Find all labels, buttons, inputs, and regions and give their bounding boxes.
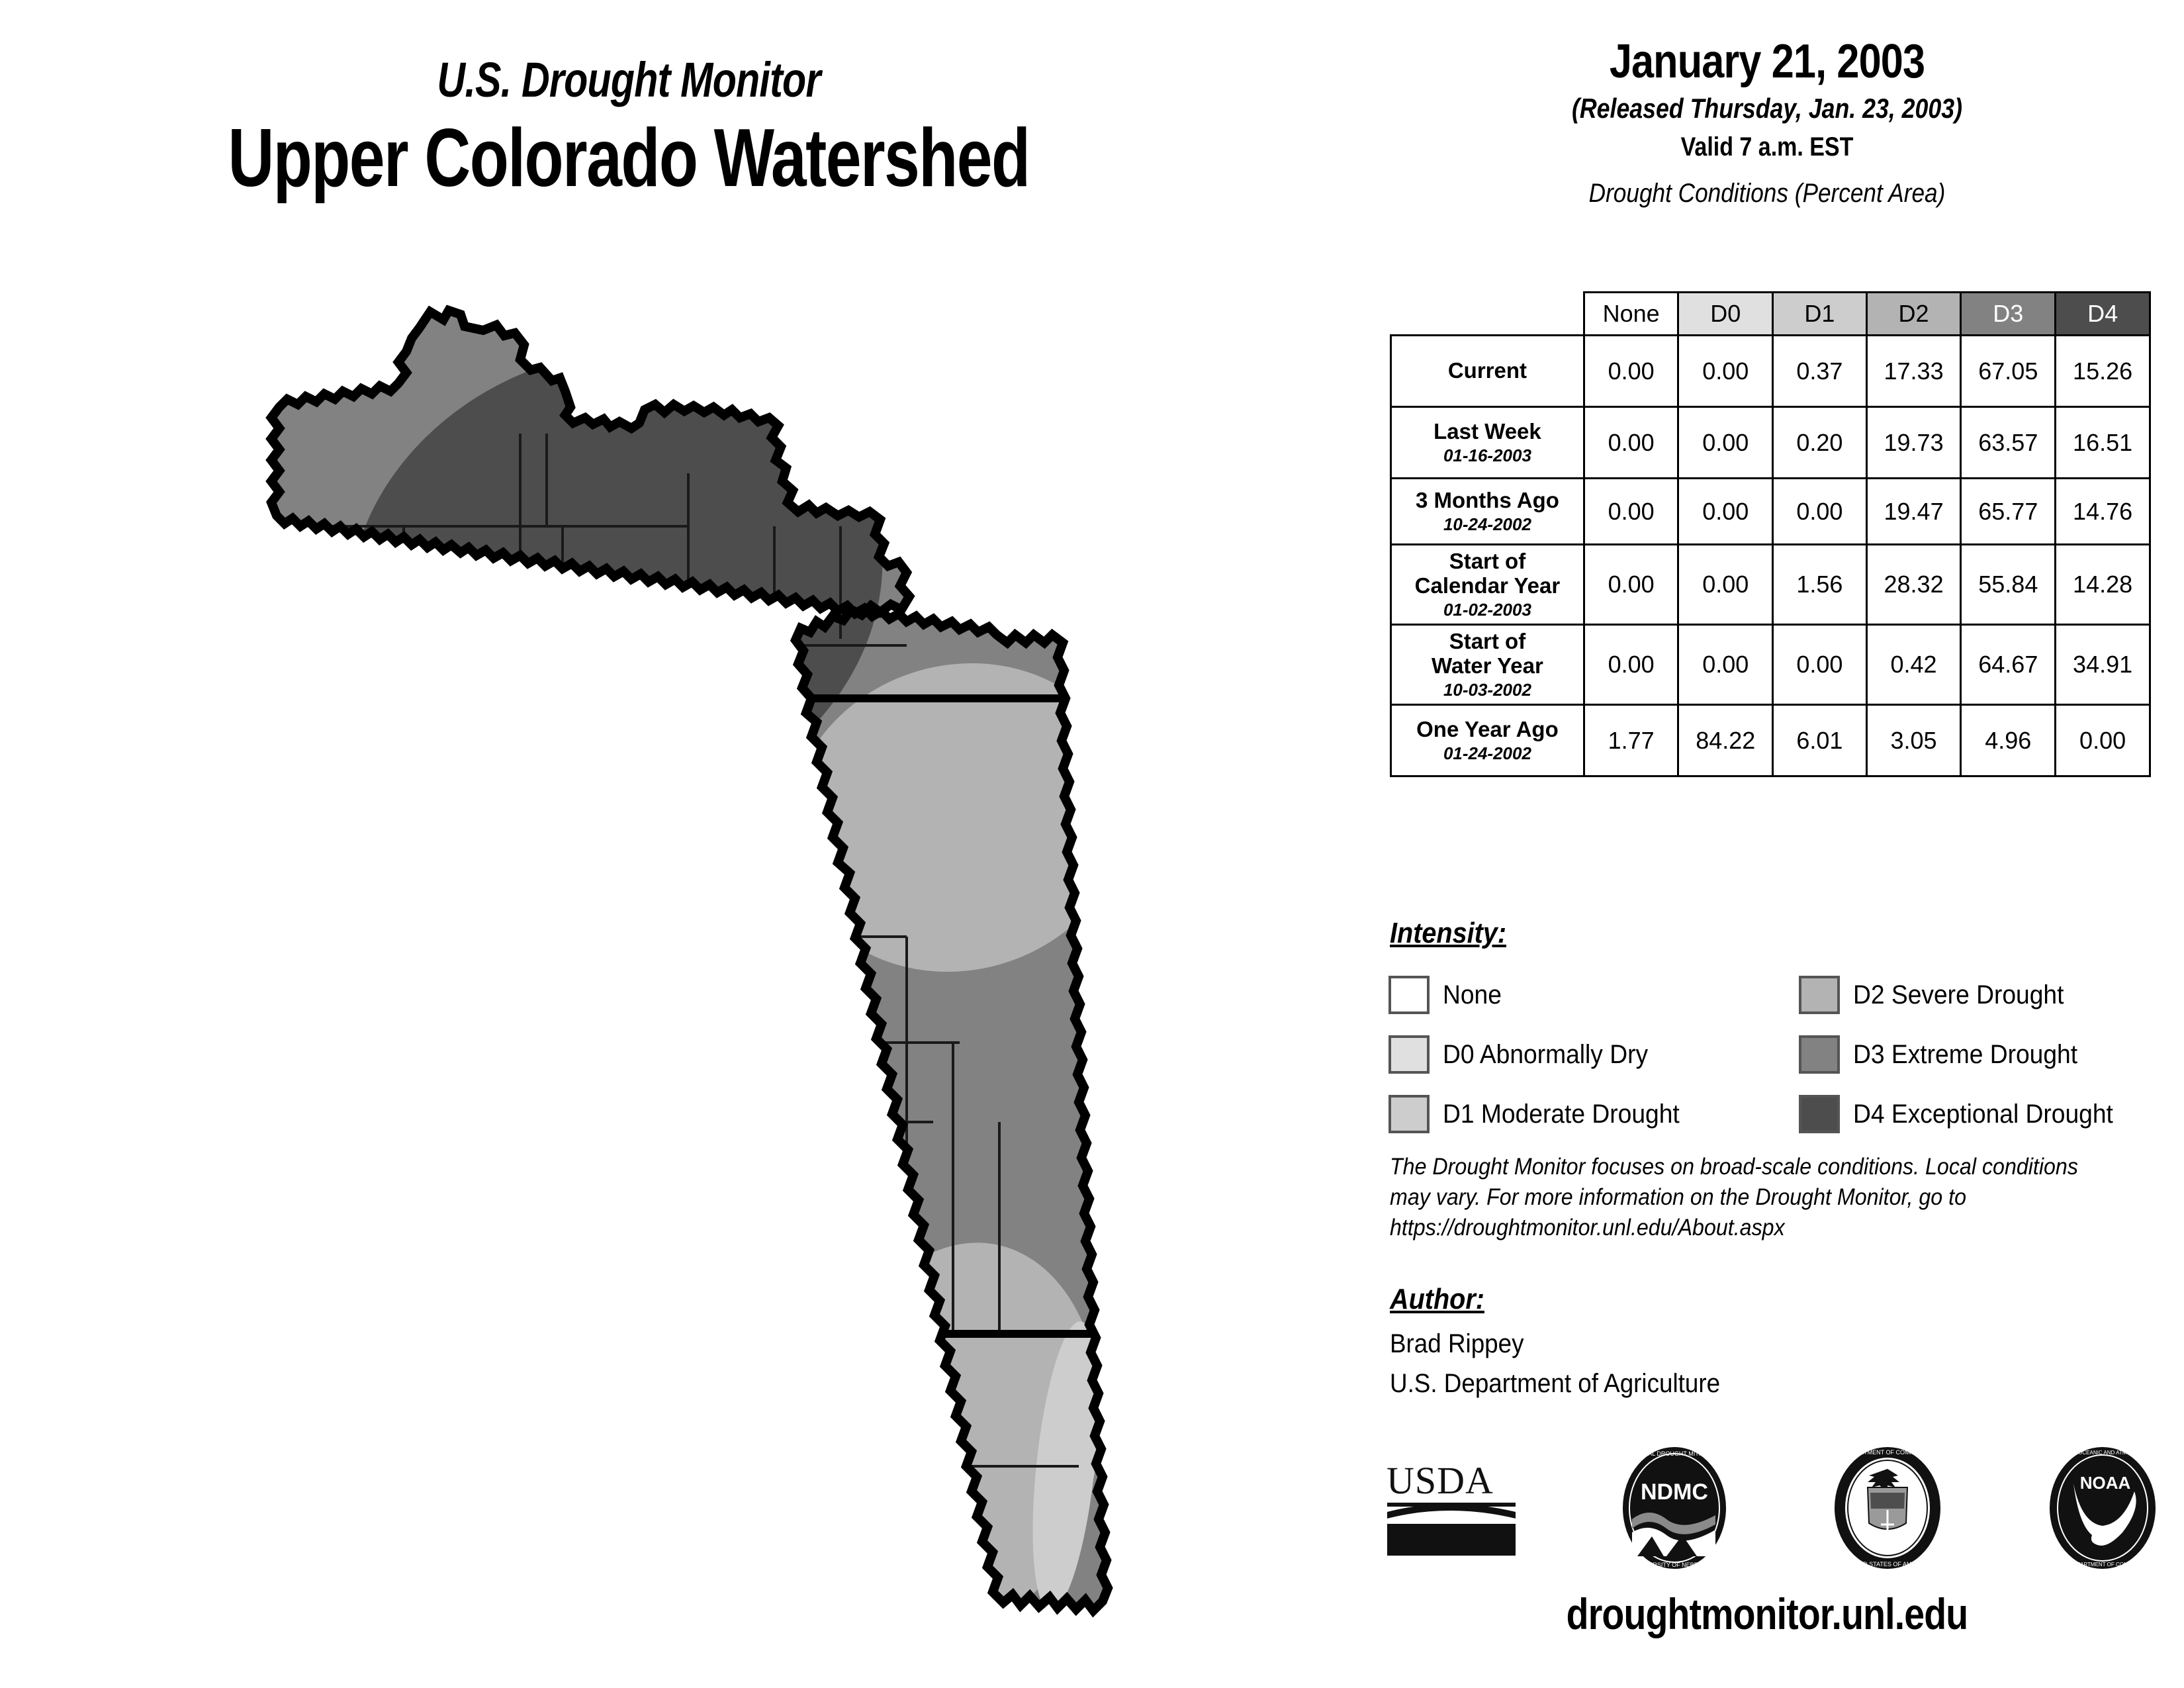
svg-text:USDA: USDA	[1387, 1459, 1494, 1502]
legend-item-d2: D2 Severe Drought	[1799, 976, 2079, 1014]
row-label-text: One Year Ago	[1394, 718, 1580, 742]
row-label-text: Last Week	[1394, 420, 1580, 444]
drought-fill-layer	[218, 301, 1145, 1618]
swatch-d4-icon	[1799, 1095, 1840, 1133]
table-row: Start of Water Year 10-03-2002 0.00 0.00…	[1391, 625, 2150, 705]
cell-wateryear-d4: 34.91	[2056, 625, 2150, 705]
intensity-legend: None D2 Severe Drought D0 Abnormally Dry…	[1388, 970, 2183, 1149]
column-header-d2: D2	[1866, 293, 1961, 336]
valid-time: Valid 7 a.m. EST	[1413, 132, 2122, 162]
row-label-current: Current	[1391, 336, 1584, 407]
region-title: Upper Colorado Watershed	[138, 111, 1119, 205]
author-name: Brad Rippey	[1390, 1329, 1524, 1359]
table-header-row: None D0 D1 D2 D3 D4	[1391, 293, 2150, 336]
column-header-d4: D4	[2056, 293, 2150, 336]
doc-ring-top-text: DEPARTMENT OF COMMERCE	[1844, 1449, 1931, 1456]
cell-calyear-d2: 28.32	[1866, 545, 1961, 625]
cell-oneyear-d4: 0.00	[2056, 705, 2150, 776]
svg-text:NOAA: NOAA	[2080, 1473, 2131, 1493]
row-label-text: Start of Calendar Year	[1394, 549, 1580, 598]
cell-oneyear-d0: 84.22	[1678, 705, 1773, 776]
region-d4-south	[361, 1251, 690, 1618]
cell-lastweek-d4: 16.51	[2056, 407, 2150, 479]
disclaimer-text: The Drought Monitor focuses on broad-sca…	[1390, 1152, 2109, 1244]
legend-label-d3: D3 Extreme Drought	[1853, 1040, 2077, 1070]
swatch-d0-icon	[1388, 1035, 1430, 1074]
legend-row: None D2 Severe Drought	[1388, 970, 2183, 1020]
cell-wateryear-none: 0.00	[1584, 625, 1678, 705]
cell-current-none: 0.00	[1584, 336, 1678, 407]
author-organization: U.S. Department of Agriculture	[1390, 1369, 1720, 1399]
release-date: (Released Thursday, Jan. 23, 2003)	[1413, 93, 2122, 124]
drought-conditions-table: None D0 D1 D2 D3 D4 Current 0.00 0.00 0.…	[1390, 291, 2151, 777]
cell-wateryear-d0: 0.00	[1678, 625, 1773, 705]
legend-item-d0: D0 Abnormally Dry	[1388, 1035, 1799, 1074]
cell-3months-d1: 0.00	[1773, 479, 1867, 545]
cell-calyear-d0: 0.00	[1678, 545, 1773, 625]
cell-oneyear-none: 1.77	[1584, 705, 1678, 776]
intensity-legend-title: Intensity:	[1390, 917, 1506, 950]
website-url[interactable]: droughtmonitor.unl.edu	[1417, 1589, 2117, 1639]
legend-label-none: None	[1443, 980, 1502, 1010]
cell-3months-d0: 0.00	[1678, 479, 1773, 545]
cell-wateryear-d3: 64.67	[1961, 625, 2056, 705]
row-label-start-water-year: Start of Water Year 10-03-2002	[1391, 625, 1584, 705]
legend-row: D0 Abnormally Dry D3 Extreme Drought	[1388, 1029, 2183, 1080]
row-label-last-week: Last Week 01-16-2003	[1391, 407, 1584, 479]
cell-calyear-none: 0.00	[1584, 545, 1678, 625]
row-label-date: 01-24-2002	[1394, 744, 1580, 763]
swatch-d2-icon	[1799, 976, 1840, 1014]
swatch-d1-icon	[1388, 1095, 1430, 1133]
cell-wateryear-d2: 0.42	[1866, 625, 1961, 705]
cell-current-d0: 0.00	[1678, 336, 1773, 407]
valid-date: January 21, 2003	[1413, 34, 2122, 89]
cell-3months-d3: 65.77	[1961, 479, 2056, 545]
logo-row: USDA NDMC NATIONAL DROUGHT MITIGATION UN…	[1383, 1443, 2164, 1575]
column-header-d0: D0	[1678, 293, 1773, 336]
table-row: 3 Months Ago 10-24-2002 0.00 0.00 0.00 1…	[1391, 479, 2150, 545]
noaa-ring-top-text: NATIONAL OCEANIC AND ATMOSPHERIC	[2051, 1450, 2155, 1456]
noaa-ring-bottom-text: U.S. DEPARTMENT OF COMMERCE	[2058, 1562, 2147, 1568]
row-label-date: 01-02-2003	[1394, 600, 1580, 620]
cell-oneyear-d2: 3.05	[1866, 705, 1961, 776]
cell-oneyear-d3: 4.96	[1961, 705, 2056, 776]
legend-item-none: None	[1388, 976, 1799, 1014]
row-label-3-months-ago: 3 Months Ago 10-24-2002	[1391, 479, 1584, 545]
swatch-none-icon	[1388, 976, 1430, 1014]
legend-label-d1: D1 Moderate Drought	[1443, 1100, 1680, 1129]
legend-label-d2: D2 Severe Drought	[1853, 980, 2064, 1010]
cell-lastweek-d2: 19.73	[1866, 407, 1961, 479]
cell-calyear-d3: 55.84	[1961, 545, 2056, 625]
ndmc-logo: NDMC NATIONAL DROUGHT MITIGATION UNIVERS…	[1615, 1445, 1734, 1574]
row-label-text: 3 Months Ago	[1394, 489, 1580, 513]
cell-lastweek-d3: 63.57	[1961, 407, 2056, 479]
program-title: U.S. Drought Monitor	[126, 52, 1132, 108]
legend-item-d1: D1 Moderate Drought	[1388, 1095, 1799, 1133]
table-row: Last Week 01-16-2003 0.00 0.00 0.20 19.7…	[1391, 407, 2150, 479]
row-label-date: 10-03-2002	[1394, 680, 1580, 700]
row-label-date: 10-24-2002	[1394, 515, 1580, 534]
cell-oneyear-d1: 6.01	[1773, 705, 1867, 776]
column-header-d1: D1	[1773, 293, 1867, 336]
table-row: Start of Calendar Year 01-02-2003 0.00 0…	[1391, 545, 2150, 625]
row-label-one-year-ago: One Year Ago 01-24-2002	[1391, 705, 1584, 776]
cell-3months-d4: 14.76	[2056, 479, 2150, 545]
cell-current-d1: 0.37	[1773, 336, 1867, 407]
swatch-d3-icon	[1799, 1035, 1840, 1074]
table-row: Current 0.00 0.00 0.37 17.33 67.05 15.26	[1391, 336, 2150, 407]
cell-lastweek-d1: 0.20	[1773, 407, 1867, 479]
table-corner-cell	[1391, 293, 1584, 336]
row-label-date: 01-16-2003	[1394, 446, 1580, 465]
author-heading: Author:	[1390, 1283, 1484, 1316]
legend-label-d0: D0 Abnormally Dry	[1443, 1040, 1648, 1070]
legend-label-d4: D4 Exceptional Drought	[1853, 1100, 2113, 1129]
column-header-none: None	[1584, 293, 1678, 336]
cell-wateryear-d1: 0.00	[1773, 625, 1867, 705]
drought-map[interactable]	[218, 301, 1145, 1618]
cell-calyear-d1: 1.56	[1773, 545, 1867, 625]
doc-ring-bottom-text: UNITED STATES OF AMERICA	[1845, 1561, 1930, 1568]
info-panel: January 21, 2003 (Released Thursday, Jan…	[1350, 0, 2184, 1688]
legend-row: D1 Moderate Drought D4 Exceptional Droug…	[1388, 1089, 2183, 1139]
legend-item-d3: D3 Extreme Drought	[1799, 1035, 2095, 1074]
column-header-d3: D3	[1961, 293, 2056, 336]
cell-lastweek-none: 0.00	[1584, 407, 1678, 479]
usda-logo: USDA	[1383, 1455, 1522, 1564]
cell-calyear-d4: 14.28	[2056, 545, 2150, 625]
noaa-logo: NOAA NATIONAL OCEANIC AND ATMOSPHERIC U.…	[2042, 1445, 2164, 1574]
cell-3months-none: 0.00	[1584, 479, 1678, 545]
doc-logo: DEPARTMENT OF COMMERCE UNITED STATES OF …	[1827, 1445, 1949, 1574]
row-label-text: Start of Water Year	[1394, 630, 1580, 679]
cell-lastweek-d0: 0.00	[1678, 407, 1773, 479]
row-label-text: Current	[1394, 359, 1580, 383]
legend-item-d4: D4 Exceptional Drought	[1799, 1095, 2132, 1133]
table-caption: Drought Conditions (Percent Area)	[1400, 179, 2134, 209]
row-label-start-calendar-year: Start of Calendar Year 01-02-2003	[1391, 545, 1584, 625]
region-d2-westcentral	[274, 921, 639, 1429]
ndmc-ring-bottom-text: UNIVERSITY OF NEBRASKA	[1635, 1562, 1714, 1568]
map-panel: U.S. Drought Monitor Upper Colorado Wate…	[0, 0, 1350, 1688]
cell-current-d2: 17.33	[1866, 336, 1961, 407]
svg-text:NDMC: NDMC	[1641, 1479, 1708, 1505]
table-row: One Year Ago 01-24-2002 1.77 84.22 6.01 …	[1391, 705, 2150, 776]
ndmc-ring-top-text: NATIONAL DROUGHT MITIGATION	[1626, 1450, 1723, 1457]
cell-current-d3: 67.05	[1961, 336, 2056, 407]
cell-3months-d2: 19.47	[1866, 479, 1961, 545]
cell-current-d4: 15.26	[2056, 336, 2150, 407]
